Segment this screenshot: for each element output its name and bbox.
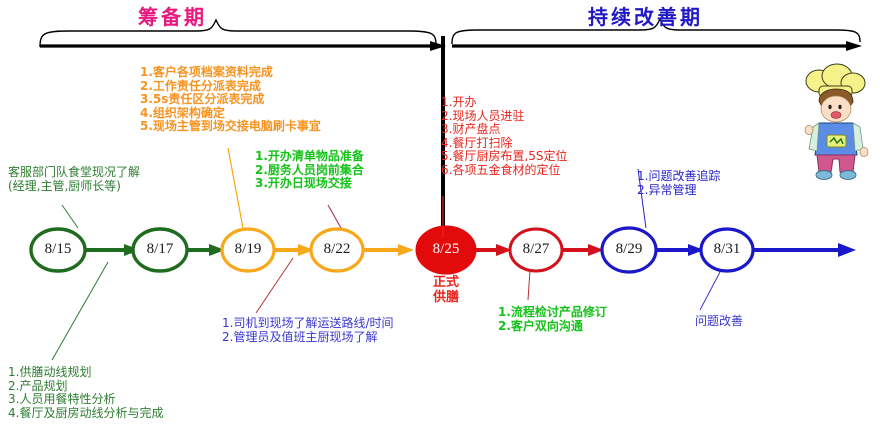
timeline-diagram: 筹备期 持续改善期 1.客户各项档案资料完成 2.工作责任分派表完成 3.5s责… bbox=[0, 0, 880, 430]
note-prep-line-4: 4.组织架构确定 bbox=[140, 107, 321, 121]
note-open-line-3: 3.开办日现场交接 bbox=[255, 177, 364, 191]
note-prep-line-2: 2.工作责任分派表完成 bbox=[140, 80, 321, 94]
timeline-node-8-31[interactable] bbox=[701, 229, 753, 271]
connector-n8-end-arrowhead bbox=[838, 243, 856, 257]
note-driver-list: 1.司机到现场了解运送路线/时间 2.管理员及值班主厨现场了解 bbox=[222, 317, 394, 344]
connector-n4-n5-arrowhead bbox=[398, 244, 414, 256]
note-planning-list: 1.供膳动线规划 2.产品规划 3.人员用餐特性分析 4.餐厅及厨房动线分析与完… bbox=[8, 366, 163, 420]
note-open-line-1: 1.开办清单物品准备 bbox=[255, 150, 364, 164]
chef-eye-left bbox=[828, 105, 831, 109]
prep-phase-brace bbox=[40, 20, 436, 47]
note-improve-line-1: 问题改善 bbox=[695, 315, 743, 329]
note-formal-line-4: 4.餐厅打扫除 bbox=[441, 137, 568, 151]
note-tracking-list: 1.问题改善追踪 2.异常管理 bbox=[637, 170, 720, 197]
phase-title-prep: 筹备期 bbox=[138, 1, 207, 30]
chef-hand-right bbox=[860, 147, 868, 156]
timeline-node-8-27[interactable] bbox=[510, 229, 562, 271]
chef-mouth bbox=[831, 112, 841, 119]
note-formal-line-3: 3.财产盘点 bbox=[441, 123, 568, 137]
leader-canteen-survey bbox=[62, 205, 78, 228]
chef-shoe-left bbox=[816, 171, 832, 180]
note-plan-line-4: 4.餐厅及厨房动线分析与完成 bbox=[8, 407, 163, 421]
note-prep-line-5: 5.现场主管到场交接电脑刷卡事宜 bbox=[140, 120, 321, 134]
note-formal-line-1: 1.开办 bbox=[441, 96, 568, 110]
note-canteen-line-2: (经理,主管,厨师长等) bbox=[8, 180, 140, 194]
milestone-caption: 正式 供膳 bbox=[406, 275, 486, 305]
timeline-node-8-29[interactable] bbox=[602, 228, 656, 272]
note-track-line-1: 1.问题改善追踪 bbox=[637, 170, 720, 184]
leader-process-list bbox=[528, 270, 530, 300]
note-canteen-survey: 客服部门队食堂现况了解 (经理,主管,厨师长等) bbox=[8, 166, 140, 193]
timeline-node-8-15[interactable] bbox=[31, 229, 85, 271]
note-prep-line-1: 1.客户各项档案资料完成 bbox=[140, 66, 321, 80]
note-plan-line-3: 3.人员用餐特性分析 bbox=[8, 393, 163, 407]
phase-title-improve: 持续改善期 bbox=[588, 1, 703, 30]
note-process-line-2: 2.客户双向沟通 bbox=[498, 320, 607, 334]
leader-improve-label bbox=[700, 272, 720, 310]
note-driver-line-1: 1.司机到现场了解运送路线/时间 bbox=[222, 317, 394, 331]
chef-hand-left bbox=[805, 125, 813, 134]
note-opening-checklist: 1.开办清单物品准备 2.厨务人员岗前集合 3.开办日现场交接 bbox=[255, 150, 364, 191]
note-driver-line-2: 2.管理员及值班主厨现场了解 bbox=[222, 331, 394, 345]
improve-phase-axis-arrowhead bbox=[846, 41, 862, 51]
chef-pants bbox=[817, 155, 855, 172]
note-process-line-1: 1.流程检讨产品修订 bbox=[498, 306, 607, 320]
leader-planning-list bbox=[52, 262, 108, 360]
chef-eye-right bbox=[838, 105, 841, 109]
note-plan-line-2: 2.产品规划 bbox=[8, 380, 163, 394]
timeline-node-8-25[interactable] bbox=[417, 227, 475, 273]
note-open-line-2: 2.厨务人员岗前集合 bbox=[255, 164, 364, 178]
note-prep-checklist: 1.客户各项档案资料完成 2.工作责任分派表完成 3.5s责任区分派表完成 4.… bbox=[140, 66, 321, 134]
milestone-caption-line-1: 正式 bbox=[406, 275, 486, 290]
timeline-node-8-19[interactable] bbox=[222, 229, 274, 271]
note-formal-line-2: 2.现场人员进驻 bbox=[441, 110, 568, 124]
leader-prep-list bbox=[228, 148, 243, 228]
note-prep-line-3: 3.5s责任区分派表完成 bbox=[140, 93, 321, 107]
note-track-line-2: 2.异常管理 bbox=[637, 184, 720, 198]
note-formal-service-list: 1.开办 2.现场人员进驻 3.财产盘点 4.餐厅打扫除 5.餐厅厨房布置,5S… bbox=[441, 96, 568, 177]
note-canteen-line-1: 客服部门队食堂现况了解 bbox=[8, 166, 140, 180]
timeline-node-8-17[interactable] bbox=[133, 229, 187, 271]
timeline-node-8-22[interactable] bbox=[311, 229, 363, 271]
note-process-review-list: 1.流程检讨产品修订 2.客户双向沟通 bbox=[498, 306, 607, 333]
note-formal-line-5: 5.餐厅厨房布置,5S定位 bbox=[441, 150, 568, 164]
note-formal-line-6: 6.各项五金食材的定位 bbox=[441, 164, 568, 178]
note-improvement-label: 问题改善 bbox=[695, 315, 743, 329]
chef-sleeve-right bbox=[853, 123, 863, 151]
chef-character-illustration bbox=[795, 57, 873, 182]
note-plan-line-1: 1.供膳动线规划 bbox=[8, 366, 163, 380]
leader-open-list bbox=[328, 205, 341, 228]
chef-shoe-right bbox=[840, 171, 856, 180]
milestone-caption-line-2: 供膳 bbox=[406, 290, 486, 305]
